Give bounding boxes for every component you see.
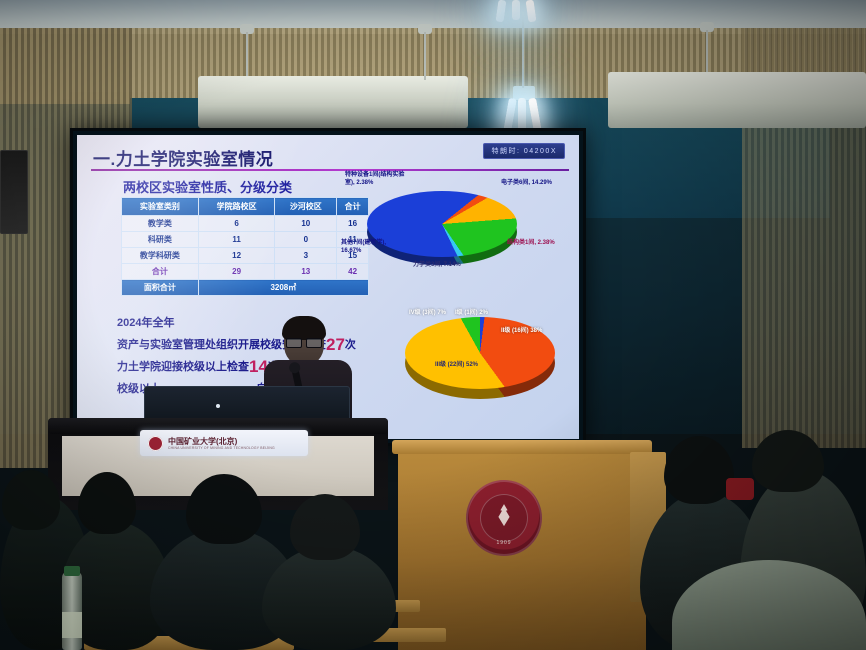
- slide-timestamp-badge: 特朗时: 04200X: [483, 143, 565, 159]
- university-name-english: CHINA UNIVERSITY OF MINING AND TECHNOLOG…: [168, 446, 275, 450]
- pie-label-other: 其他7间(建筑学), 16.67%: [341, 239, 387, 255]
- pie-label-structure: 结构类1间, 2.38%: [507, 239, 565, 247]
- ceiling-light-panel: [198, 76, 468, 128]
- lecture-hall-photo: 特朗时: 04200X 一.力土学院实验室情况 两校区实验室性质、分级分类 实验…: [0, 0, 866, 650]
- presenter-hair: [282, 316, 326, 340]
- pie-label-level-2: II级 (16间) 38%: [501, 327, 555, 335]
- pie-chart-lab-nature: 特种设备1间(结构实验室), 2.38% 电子类6间, 14.29% 结构类1间…: [345, 171, 567, 283]
- university-name: 中国矿业大学(北京): [168, 437, 275, 446]
- table-cell: 12: [198, 248, 275, 264]
- wooden-podium-top: [392, 440, 652, 454]
- table-footer-value: 3208㎡: [198, 280, 368, 296]
- table-cell: 教学科研类: [122, 248, 199, 264]
- table-cell: 合计: [122, 264, 199, 280]
- lab-classification-table: 实验室类别 学院路校区 沙河校区 合计 教学类 6 10 16 科研类: [121, 197, 369, 296]
- table-col-header: 学院路校区: [198, 198, 275, 216]
- pie-label-level-3: III级 (22间) 52%: [435, 361, 493, 369]
- table-footer-label: 面积合计: [122, 280, 199, 296]
- slide-section-title: 两校区实验室性质、分级分类: [123, 177, 292, 196]
- audience-scarf: [726, 478, 754, 500]
- pie-label-level-1: I级 (1间) 2%: [455, 309, 499, 317]
- pie-label-special-equipment: 特种设备1间(结构实验室), 2.38%: [345, 171, 407, 187]
- table-header-row: 实验室类别 学院路校区 沙河校区 合计: [122, 198, 369, 216]
- light-rod: [522, 12, 524, 88]
- body-line3-pre: 力土学院迎接校级以上检查: [117, 361, 249, 373]
- university-emblem-icon: 1909: [466, 480, 542, 556]
- table-footer-row: 面积合计 3208㎡: [122, 280, 369, 296]
- light-rod: [424, 32, 426, 80]
- table-cell: 0: [275, 232, 337, 248]
- table-cell: 教学类: [122, 216, 199, 232]
- table-row: 教学类 6 10 16: [122, 216, 369, 232]
- table-row: 科研类 11 0 11: [122, 232, 369, 248]
- pie-top-face: [367, 191, 517, 257]
- table-row: 合计 29 13 42: [122, 264, 369, 280]
- pie-label-electronics: 电子类6间, 14.29%: [501, 179, 565, 187]
- table-cell: 10: [275, 216, 337, 232]
- table-cell: 科研类: [122, 232, 199, 248]
- audience-head: [664, 436, 734, 504]
- water-bottle: [62, 572, 82, 650]
- ceiling-light-panel: [608, 72, 866, 128]
- slide-title: 一.力土学院实验室情况: [93, 145, 273, 170]
- wall-speaker: [0, 150, 28, 234]
- table-cell: 3: [275, 248, 337, 264]
- emblem-flame-icon: [494, 504, 514, 526]
- laptop-indicator-light: [216, 404, 220, 408]
- table-col-header: 沙河校区: [275, 198, 337, 216]
- table-row: 教学科研类 12 3 15: [122, 248, 369, 264]
- table-cell: 13: [275, 264, 337, 280]
- table-col-header: 实验室类别: [122, 198, 199, 216]
- university-seal-icon: [148, 436, 163, 451]
- table-cell: 29: [198, 264, 275, 280]
- bottle-cap: [64, 566, 80, 576]
- bottle-label: [62, 612, 82, 638]
- table-cell: 6: [198, 216, 275, 232]
- glasses-icon: [286, 338, 322, 346]
- pie-label-mechanics: 力学类3间, 7.14%: [413, 261, 471, 269]
- emblem-year: 1909: [466, 540, 542, 546]
- university-name-plate: 中国矿业大学(北京) CHINA UNIVERSITY OF MINING AN…: [140, 430, 308, 456]
- fluorescent-tube: [512, 0, 520, 20]
- table-cell: 11: [198, 232, 275, 248]
- emblem-inner-ring: [480, 494, 528, 542]
- light-rod: [246, 32, 248, 80]
